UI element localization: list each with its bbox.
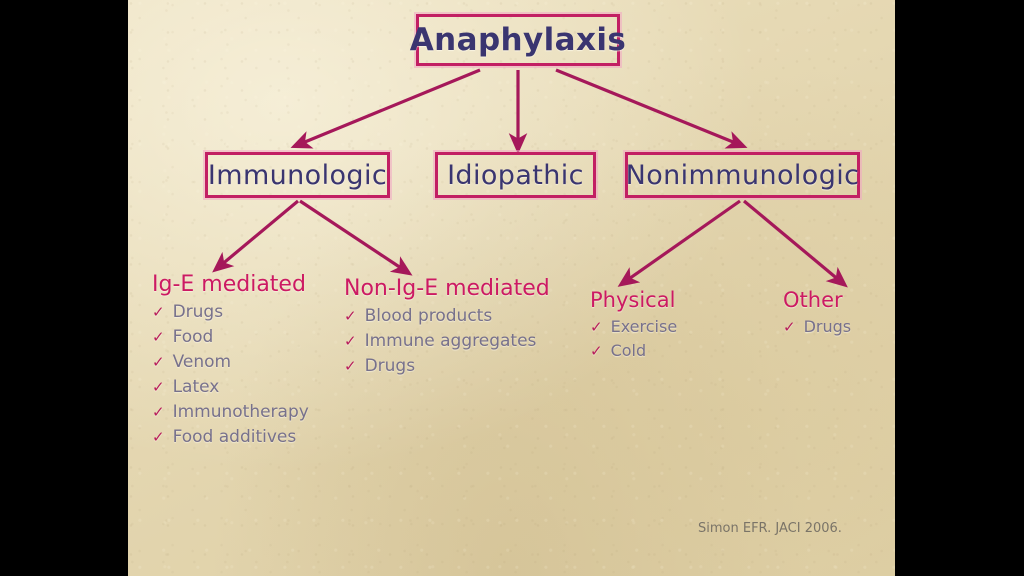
list-item: ✓Drugs	[344, 354, 550, 379]
node-anaphylaxis-label: Anaphylaxis	[410, 22, 626, 58]
arrow-nonimmunologic-to-other	[744, 201, 840, 281]
branch-ige-mediated: Ig-E mediated ✓Drugs ✓Food ✓Venom ✓Latex…	[152, 272, 309, 450]
list-item-label: Food	[173, 325, 214, 350]
node-immunologic: Immunologic	[205, 152, 390, 198]
list-item-label: Immune aggregates	[365, 329, 537, 354]
branch-physical: Physical ✓Exercise ✓Cold	[590, 288, 677, 362]
list-item-label: Blood products	[365, 304, 493, 329]
slide-stage: Anaphylaxis Immunologic Idiopathic Nonim…	[0, 0, 1024, 576]
list-item-label: Cold	[611, 339, 647, 363]
list-item-label: Drugs	[365, 354, 416, 379]
branch-physical-title: Physical	[590, 288, 677, 312]
list-item-label: Venom	[173, 350, 232, 375]
check-icon: ✓	[152, 355, 165, 370]
node-anaphylaxis: Anaphylaxis	[416, 14, 620, 66]
node-immunologic-label: Immunologic	[208, 160, 387, 191]
check-icon: ✓	[590, 344, 603, 359]
node-idiopathic-label: Idiopathic	[447, 160, 584, 191]
check-icon: ✓	[344, 309, 357, 324]
list-item: ✓Food	[152, 325, 309, 350]
list-item-label: Latex	[173, 375, 220, 400]
list-item-label: Exercise	[611, 315, 678, 339]
citation-text: Simon EFR. JACI 2006.	[698, 521, 842, 536]
branch-non-ige-mediated-list: ✓Blood products ✓Immune aggregates ✓Drug…	[344, 304, 550, 379]
branch-ige-mediated-list: ✓Drugs ✓Food ✓Venom ✓Latex ✓Immunotherap…	[152, 300, 309, 450]
arrow-immunologic-to-nonige	[300, 201, 404, 270]
list-item-label: Food additives	[173, 425, 297, 450]
list-item: ✓Food additives	[152, 425, 309, 450]
branch-physical-list: ✓Exercise ✓Cold	[590, 315, 677, 362]
arrow-nonimmunologic-to-physical	[626, 201, 740, 281]
arrow-root-to-nonimmunologic	[556, 70, 738, 144]
list-item: ✓Latex	[152, 375, 309, 400]
list-item-label: Drugs	[173, 300, 224, 325]
slide-canvas: Anaphylaxis Immunologic Idiopathic Nonim…	[128, 0, 895, 576]
list-item: ✓Exercise	[590, 315, 677, 339]
node-nonimmunologic-label: Nonimmunologic	[626, 160, 860, 191]
list-item-label: Drugs	[804, 315, 852, 339]
list-item: ✓Cold	[590, 339, 677, 363]
check-icon: ✓	[344, 334, 357, 349]
check-icon: ✓	[783, 320, 796, 335]
check-icon: ✓	[152, 430, 165, 445]
list-item: ✓Immune aggregates	[344, 329, 550, 354]
arrow-root-to-immunologic	[300, 70, 480, 144]
check-icon: ✓	[152, 330, 165, 345]
branch-other-list: ✓Drugs	[783, 315, 851, 339]
check-icon: ✓	[152, 405, 165, 420]
list-item-label: Immunotherapy	[173, 400, 309, 425]
node-nonimmunologic: Nonimmunologic	[625, 152, 860, 198]
node-idiopathic: Idiopathic	[435, 152, 596, 198]
branch-other: Other ✓Drugs	[783, 288, 851, 339]
arrow-immunologic-to-ige	[220, 201, 298, 266]
branch-ige-mediated-title: Ig-E mediated	[152, 272, 309, 297]
list-item: ✓Drugs	[152, 300, 309, 325]
list-item: ✓Drugs	[783, 315, 851, 339]
check-icon: ✓	[344, 359, 357, 374]
check-icon: ✓	[590, 320, 603, 335]
check-icon: ✓	[152, 305, 165, 320]
list-item: ✓Venom	[152, 350, 309, 375]
list-item: ✓Immunotherapy	[152, 400, 309, 425]
check-icon: ✓	[152, 380, 165, 395]
branch-non-ige-mediated-title: Non-Ig-E mediated	[344, 276, 550, 301]
list-item: ✓Blood products	[344, 304, 550, 329]
branch-non-ige-mediated: Non-Ig-E mediated ✓Blood products ✓Immun…	[344, 276, 550, 379]
branch-other-title: Other	[783, 288, 851, 312]
